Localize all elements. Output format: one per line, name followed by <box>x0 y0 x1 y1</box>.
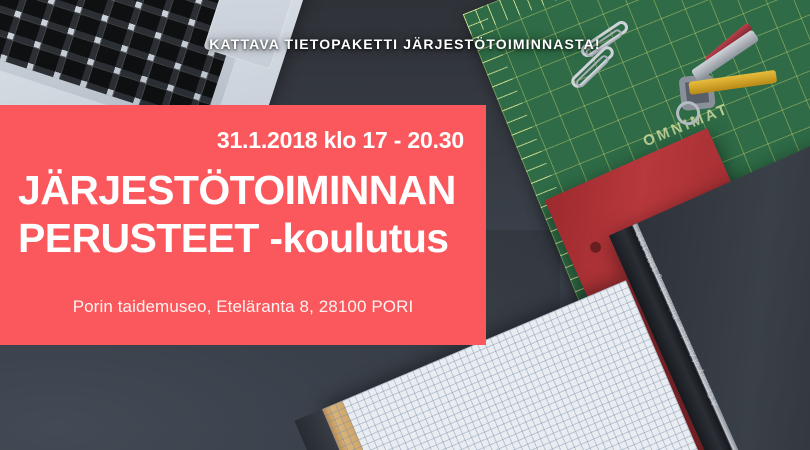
binder-punch-hole <box>588 240 603 255</box>
red-info-card: 31.1.2018 klo 17 - 20.30 JÄRJESTÖTOIMINN… <box>0 105 486 345</box>
venue-address: Porin taidemuseo, Eteläranta 8, 28100 PO… <box>0 297 486 317</box>
tagline-text: KATTAVA TIETOPAKETTI JÄRJESTÖTOIMINNASTA… <box>0 36 810 52</box>
page-title: JÄRJESTÖTOIMINNAN PERUSTEET -koulutus <box>18 167 470 263</box>
top-tagline-strip: KATTAVA TIETOPAKETTI JÄRJESTÖTOIMINNASTA… <box>0 0 810 96</box>
headline-line-2: PERUSTEET -koulutus <box>18 215 470 263</box>
event-date-time: 31.1.2018 klo 17 - 20.30 <box>217 127 464 154</box>
event-poster: OMNIMAT A Century of American Printmakin… <box>0 0 810 450</box>
headline-line-1: JÄRJESTÖTOIMINNAN <box>18 167 470 215</box>
